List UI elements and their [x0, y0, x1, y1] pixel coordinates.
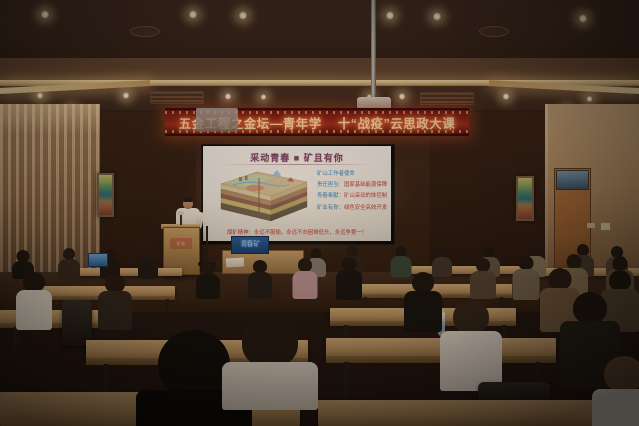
downlight-icon — [188, 10, 198, 19]
audience-person — [248, 260, 272, 298]
downlight-icon — [432, 12, 442, 21]
projector-mount-pole — [371, 0, 376, 100]
downlight-icon — [260, 94, 267, 100]
audience-person — [470, 258, 496, 298]
podium-mic-icon — [177, 211, 184, 215]
ceiling-speaker-left — [130, 26, 160, 37]
front-monitor: 青春 矿 — [231, 236, 269, 254]
projector-occlusion — [196, 108, 238, 132]
audience-person — [196, 262, 220, 298]
lecture-hall-photo: 五金工程之金坛—青年学 十“战疫”云思政大课 采动青春 ■ 矿且有你 — [0, 0, 639, 426]
audience-person — [58, 248, 80, 278]
audience-person — [16, 272, 52, 328]
audience-person — [592, 356, 639, 426]
slide-footer: 煤矿精神：永远不服输，永远不向困难低头，永远争第一！ — [207, 228, 387, 236]
downlight-icon — [385, 11, 395, 20]
ceiling-upper — [0, 0, 639, 62]
downlight-icon — [586, 96, 593, 102]
slide-line-2: 青春奉献：矿山采动的体控制 — [317, 194, 389, 200]
audience-person — [222, 316, 318, 408]
audience-person — [98, 274, 132, 328]
podium-emblem: 矿业 — [170, 238, 192, 249]
downlight-icon — [398, 93, 406, 100]
slide-line-3-value: 绿色安全高效开发 — [344, 205, 387, 211]
downlight-icon — [40, 10, 50, 19]
podium-mic-stem — [180, 214, 182, 225]
table-row — [318, 400, 639, 426]
audience-person — [336, 257, 362, 299]
front-monitor-text: 青春 矿 — [232, 237, 268, 253]
desk-papers — [226, 258, 244, 268]
laptop-screen — [88, 253, 108, 267]
table-leg — [344, 362, 349, 398]
table-leg — [14, 327, 18, 349]
slide-line-2-key: 青春奉献： — [317, 193, 344, 199]
ceiling-speaker-right — [479, 26, 509, 37]
ac-vent — [150, 91, 204, 104]
downlight-icon — [502, 93, 510, 100]
projection-screen: 采动青春 ■ 矿且有你 — [203, 146, 391, 241]
slide-heading: 矿山工作者使命 — [317, 172, 389, 178]
audience-person — [138, 250, 158, 278]
slide-text-block: 矿山工作者使命 责任担当：国家基础能源保障 青春奉献：矿山采动的体控制 矿业有你… — [317, 172, 389, 217]
slide-line-1-value: 国家基础能源保障 — [344, 182, 387, 188]
mine-cross-section-diagram — [215, 168, 313, 224]
slide-line-3-key: 矿业有你： — [317, 205, 344, 211]
audience-person — [440, 300, 502, 388]
slide-line-2-value: 矿山采动的体控制 — [344, 193, 387, 199]
slide-line-1: 责任担当：国家基础能源保障 — [317, 183, 389, 189]
audience-person — [404, 272, 442, 330]
table-leg — [166, 299, 169, 315]
downlight-icon — [238, 11, 248, 20]
slide-line-1-key: 责任担当： — [317, 182, 344, 188]
slide-title-rule — [221, 164, 373, 165]
audience-person — [292, 258, 317, 298]
slide-title: 采动青春 ■ 矿且有你 — [203, 151, 391, 164]
slide-line-3: 矿业有你：绿色安全高效开发 — [317, 206, 389, 212]
downlight-icon — [36, 92, 44, 99]
audience-person — [512, 256, 539, 299]
downlight-icon — [578, 14, 588, 23]
ac-vent — [420, 92, 474, 105]
light-switch-plate[interactable] — [600, 222, 611, 231]
door-handle[interactable] — [587, 223, 595, 228]
curtain-top-glow — [0, 104, 100, 134]
downlight-icon — [122, 92, 130, 99]
downlight-icon — [224, 93, 232, 100]
speaker-hair — [183, 197, 193, 202]
door-window — [556, 170, 589, 190]
floor-mic-stand — [206, 226, 208, 264]
wall-art-left — [97, 173, 114, 217]
wall-art-right — [516, 176, 534, 221]
